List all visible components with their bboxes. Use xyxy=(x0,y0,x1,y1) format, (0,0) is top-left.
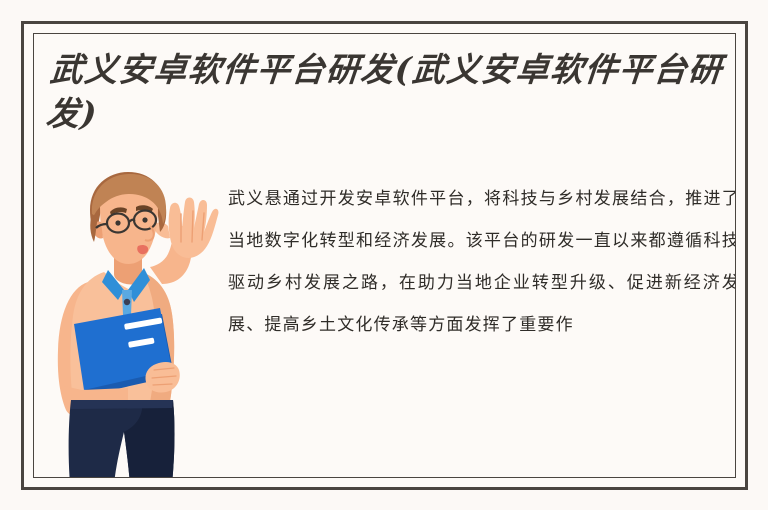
eye-left xyxy=(115,220,120,225)
shirt-button-top xyxy=(124,299,130,305)
article-inner-frame: 武义安卓软件平台研发(武义安卓软件平台研发) 卡通人物：戴眼镜的男子挥手并抱着蓝… xyxy=(33,33,736,478)
article-card: 武义安卓软件平台研发(武义安卓软件平台研发) 卡通人物：戴眼镜的男子挥手并抱着蓝… xyxy=(21,21,748,490)
illustration-man-waving-holding-blue-folder: 卡通人物：戴眼镜的男子挥手并抱着蓝色文件夹 xyxy=(46,164,221,478)
illustration-svg xyxy=(46,164,221,478)
article-body-text: 武义悬通过开发安卓软件平台，将科技与乡村发展结合，推进了当地数字化转型和经济发展… xyxy=(228,178,736,346)
eye-right xyxy=(142,217,147,222)
page-title: 武义安卓软件平台研发(武义安卓软件平台研发) xyxy=(44,48,736,136)
waistband-shape xyxy=(71,400,173,409)
